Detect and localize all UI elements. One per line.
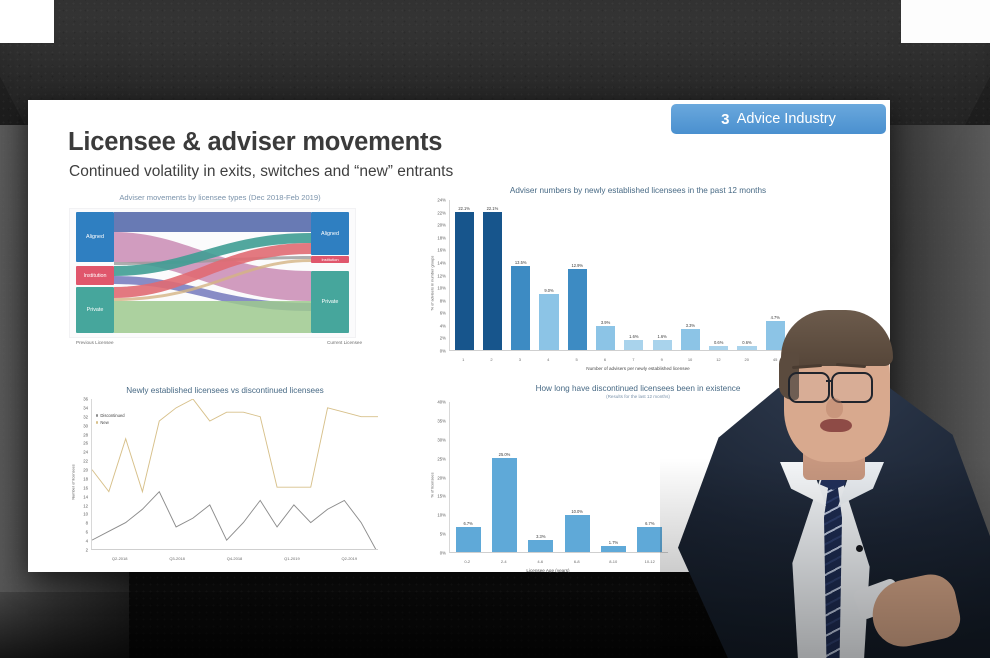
sankey-node-current-institution: Institution [311,256,349,263]
node-label: Aligned [321,231,339,237]
x-tick: 6 [591,357,619,362]
bar [483,212,502,350]
y-tick: 28 [83,432,88,437]
node-label: Private [322,299,339,305]
legend-item-discontinued: Discontinued [96,412,125,419]
y-tick: 6 [86,530,88,535]
bar-column: 9.0% [535,200,563,350]
bar-column: 3.9% [591,200,619,350]
sankey-node-previous-aligned: Aligned [76,212,114,262]
x-tick: 1 [449,357,477,362]
y-tick: 10% [437,286,446,291]
badge-number: 3 [721,111,730,128]
x-axis-label: Licensee Age (years) [428,568,668,573]
bar-value-label: 6.7% [645,521,654,526]
y-tick: 0% [440,551,446,556]
node-label: Aligned [86,234,104,240]
lapel-microphone [856,545,863,552]
bar [637,527,662,552]
sankey-title: Adviser movements by licensee types (Dec… [70,193,370,202]
y-tick: 26 [83,441,88,446]
bar-value-label: 3.9% [601,320,610,325]
y-tick: 20% [437,475,446,480]
bar-column: 10.0% [559,402,595,552]
x-tick: 5 [562,357,590,362]
mouth [820,419,852,432]
chart-panel-new-vs-discontinued: Newly established licensees vs discontin… [70,386,380,564]
y-tick: 8% [440,298,446,303]
chart-legend: Discontinued New [96,412,125,426]
new-vs-discontinued-line-chart: Number of licensees 24681012141618202224… [70,399,380,564]
legend-label: New [100,419,108,426]
bar [565,515,590,553]
y-tick: 12% [437,273,446,278]
y-tick: 6% [440,311,446,316]
bar-value-label: 3.3% [536,534,545,539]
x-tick: 8-10 [595,559,632,564]
bar-value-label: 22.1% [458,206,470,211]
y-tick: 2% [440,336,446,341]
y-tick: 36 [83,397,88,402]
y-tick: 8 [86,521,88,526]
plot-area: 6.7%25.0%3.3%10.0%1.7%6.7% [449,402,668,553]
bar-column: 25.0% [486,402,522,552]
y-tick: 40% [437,400,446,405]
x-tick: 4-6 [522,559,559,564]
bar-value-label: 1.6% [629,334,638,339]
y-tick: 18% [437,235,446,240]
x-tick: 3 [506,357,534,362]
line-series [92,399,378,549]
y-tick: 10% [437,513,446,518]
bar [511,266,530,350]
bar [539,294,558,350]
bar [492,458,517,552]
y-tick: 14% [437,260,446,265]
y-tick: 30 [83,423,88,428]
bar-value-label: 12.9% [571,263,583,268]
bar [624,340,643,350]
line-chart-title: Newly established licensees vs discontin… [70,386,380,395]
bar-column: 6.7% [450,402,486,552]
bar-value-label: 9.0% [544,288,553,293]
y-tick: 20 [83,468,88,473]
line-new [92,399,378,492]
x-tick: 2-4 [486,559,523,564]
bar-series: 6.7%25.0%3.3%10.0%1.7%6.7% [450,402,668,552]
bar-column: 22.1% [450,200,478,350]
bar-value-label: 6.7% [463,521,472,526]
y-tick: 10 [83,512,88,517]
x-tick: 4 [534,357,562,362]
y-tick: 30% [437,437,446,442]
bar-value-label: 1.7% [609,540,618,545]
y-tick: 18 [83,476,88,481]
x-tick: 0-2 [449,559,486,564]
plot-area [91,399,378,550]
x-tick: Q4-2018 [206,556,263,561]
y-tick: 24% [437,198,446,203]
page-title: Licensee & adviser movements [68,128,442,157]
bar-value-label: 13.5% [515,260,527,265]
bar-value-label: 22.1% [487,206,499,211]
background-corner-top-left [0,0,54,43]
x-tick: Q3-2018 [148,556,205,561]
bar [596,326,615,350]
y-tick: 24 [83,450,88,455]
sankey-left-axis-label: Previous Licensee [76,340,114,345]
legend-label: Discontinued [100,412,124,419]
video-frame: 3 Advice Industry Licensee & adviser mov… [0,0,990,658]
glasses-lens-left [788,372,830,403]
x-axis-ticks: 0-22-44-66-88-1010-12 [449,559,668,564]
y-tick: 12 [83,503,88,508]
chart-panel-sankey: Adviser movements by licensee types (Dec… [70,193,370,349]
y-tick: 35% [437,418,446,423]
line-discontinued [92,492,378,549]
sankey-right-axis-label: Current Licensee [327,340,362,345]
x-tick: 2 [477,357,505,362]
bar [528,540,553,552]
bar [456,527,481,552]
y-tick: 16 [83,485,88,490]
sankey-diagram: Aligned Institution Private Aligned Inst… [70,209,355,337]
y-tick: 22% [437,210,446,215]
legend-item-new: New [96,419,125,426]
y-tick: 4% [440,323,446,328]
sankey-node-current-private: Private [311,271,349,333]
y-axis-ticks: 0%2%4%6%8%10%12%14%16%18%20%22%24% [428,200,448,365]
node-label: Institution [321,257,338,262]
y-tick: 34 [83,405,88,410]
y-tick: 32 [83,414,88,419]
node-label: Private [87,307,104,313]
bar-column: 12.9% [563,200,591,350]
page-subtitle: Continued volatility in exits, switches … [69,163,453,181]
y-tick: 22 [83,459,88,464]
sankey-node-current-aligned: Aligned [311,212,349,255]
y-tick: 25% [437,456,446,461]
y-axis-ticks: 0%5%10%15%20%25%30%35%40% [428,402,448,567]
node-label: Institution [83,273,106,279]
x-tick: 6-8 [559,559,596,564]
y-tick: 0% [440,349,446,354]
bar [455,212,474,350]
y-tick: 2 [86,548,88,553]
bar [568,269,587,350]
y-tick: 15% [437,494,446,499]
bar [601,546,626,552]
x-tick: Q2-2019 [321,556,378,561]
presenter-video-overlay [660,128,990,658]
bar-value-label: 10.0% [571,509,583,514]
y-tick: 20% [437,223,446,228]
badge-label: Advice Industry [737,111,836,127]
bar-column: 22.1% [478,200,506,350]
sankey-node-previous-institution: Institution [76,266,114,285]
x-axis-ticks: Q2-2018Q3-2018Q4-2018Q1-2019Q2-2019 [91,556,378,561]
x-tick: 7 [619,357,647,362]
bar-value-label: 25.0% [499,452,511,457]
sankey-node-previous-private: Private [76,287,114,333]
nose [826,398,843,418]
eyeglasses [786,372,890,400]
background-corner-top-right [901,0,990,43]
bar-column: 13.5% [507,200,535,350]
y-tick: 4 [86,539,88,544]
y-axis-ticks: 24681012141618202224262830323436 [70,399,90,564]
bar-column: 1.7% [595,402,631,552]
bar-column: 1.6% [620,200,648,350]
y-tick: 16% [437,248,446,253]
bar-column: 3.3% [523,402,559,552]
x-tick: Q2-2018 [91,556,148,561]
x-tick: Q1-2019 [263,556,320,561]
y-tick: 5% [440,532,446,537]
y-tick: 14 [83,494,88,499]
